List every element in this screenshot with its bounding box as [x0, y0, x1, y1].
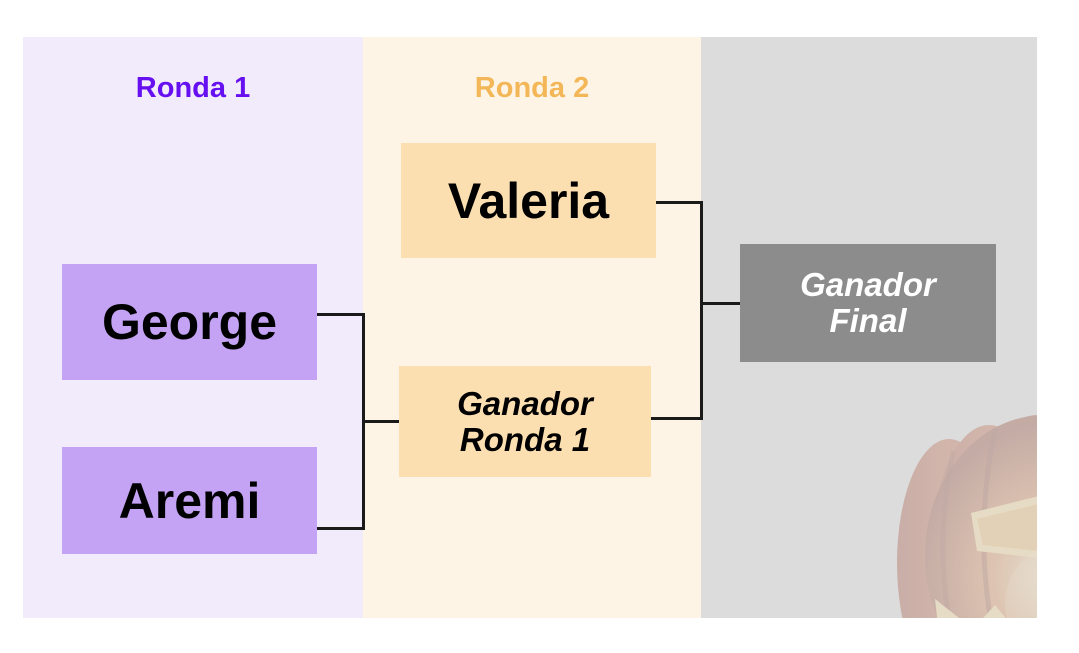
ganador-ronda-1-label-line1: Ganador	[457, 385, 593, 422]
bracket-slot-aremi[interactable]: Aremi	[62, 447, 317, 554]
round-1-title: Ronda 1	[23, 72, 363, 105]
connector-aremi-horizontal	[317, 527, 365, 530]
connector-valeria-horizontal	[656, 201, 703, 204]
connector-george-horizontal	[317, 313, 365, 316]
bracket-slot-valeria[interactable]: Valeria	[401, 143, 656, 258]
connector-ganador-r1-horizontal	[651, 417, 703, 420]
bracket-slot-ganador-ronda-1[interactable]: Ganador Ronda 1	[399, 366, 651, 477]
bracket-slot-george-label: George	[62, 295, 317, 349]
bracket-slot-ganador-final[interactable]: Ganador Final	[740, 244, 996, 362]
ganador-final-label-line2: Final	[829, 302, 906, 339]
bracket-slot-george[interactable]: George	[62, 264, 317, 380]
connector-round1-output	[362, 420, 402, 423]
ganador-final-label-line1: Ganador	[800, 266, 936, 303]
bracket-slot-aremi-label: Aremi	[62, 474, 317, 528]
connector-final-output	[700, 302, 742, 305]
connector-round2-spine	[700, 201, 703, 420]
round-2-panel	[363, 37, 701, 618]
bracket-slide: Ronda 1 Ronda 2 George Aremi Valeria Gan…	[0, 0, 1079, 653]
ganador-ronda-1-label-line2: Ronda 1	[460, 421, 590, 458]
bracket-slot-valeria-label: Valeria	[401, 174, 656, 228]
round-2-title: Ronda 2	[363, 72, 701, 105]
